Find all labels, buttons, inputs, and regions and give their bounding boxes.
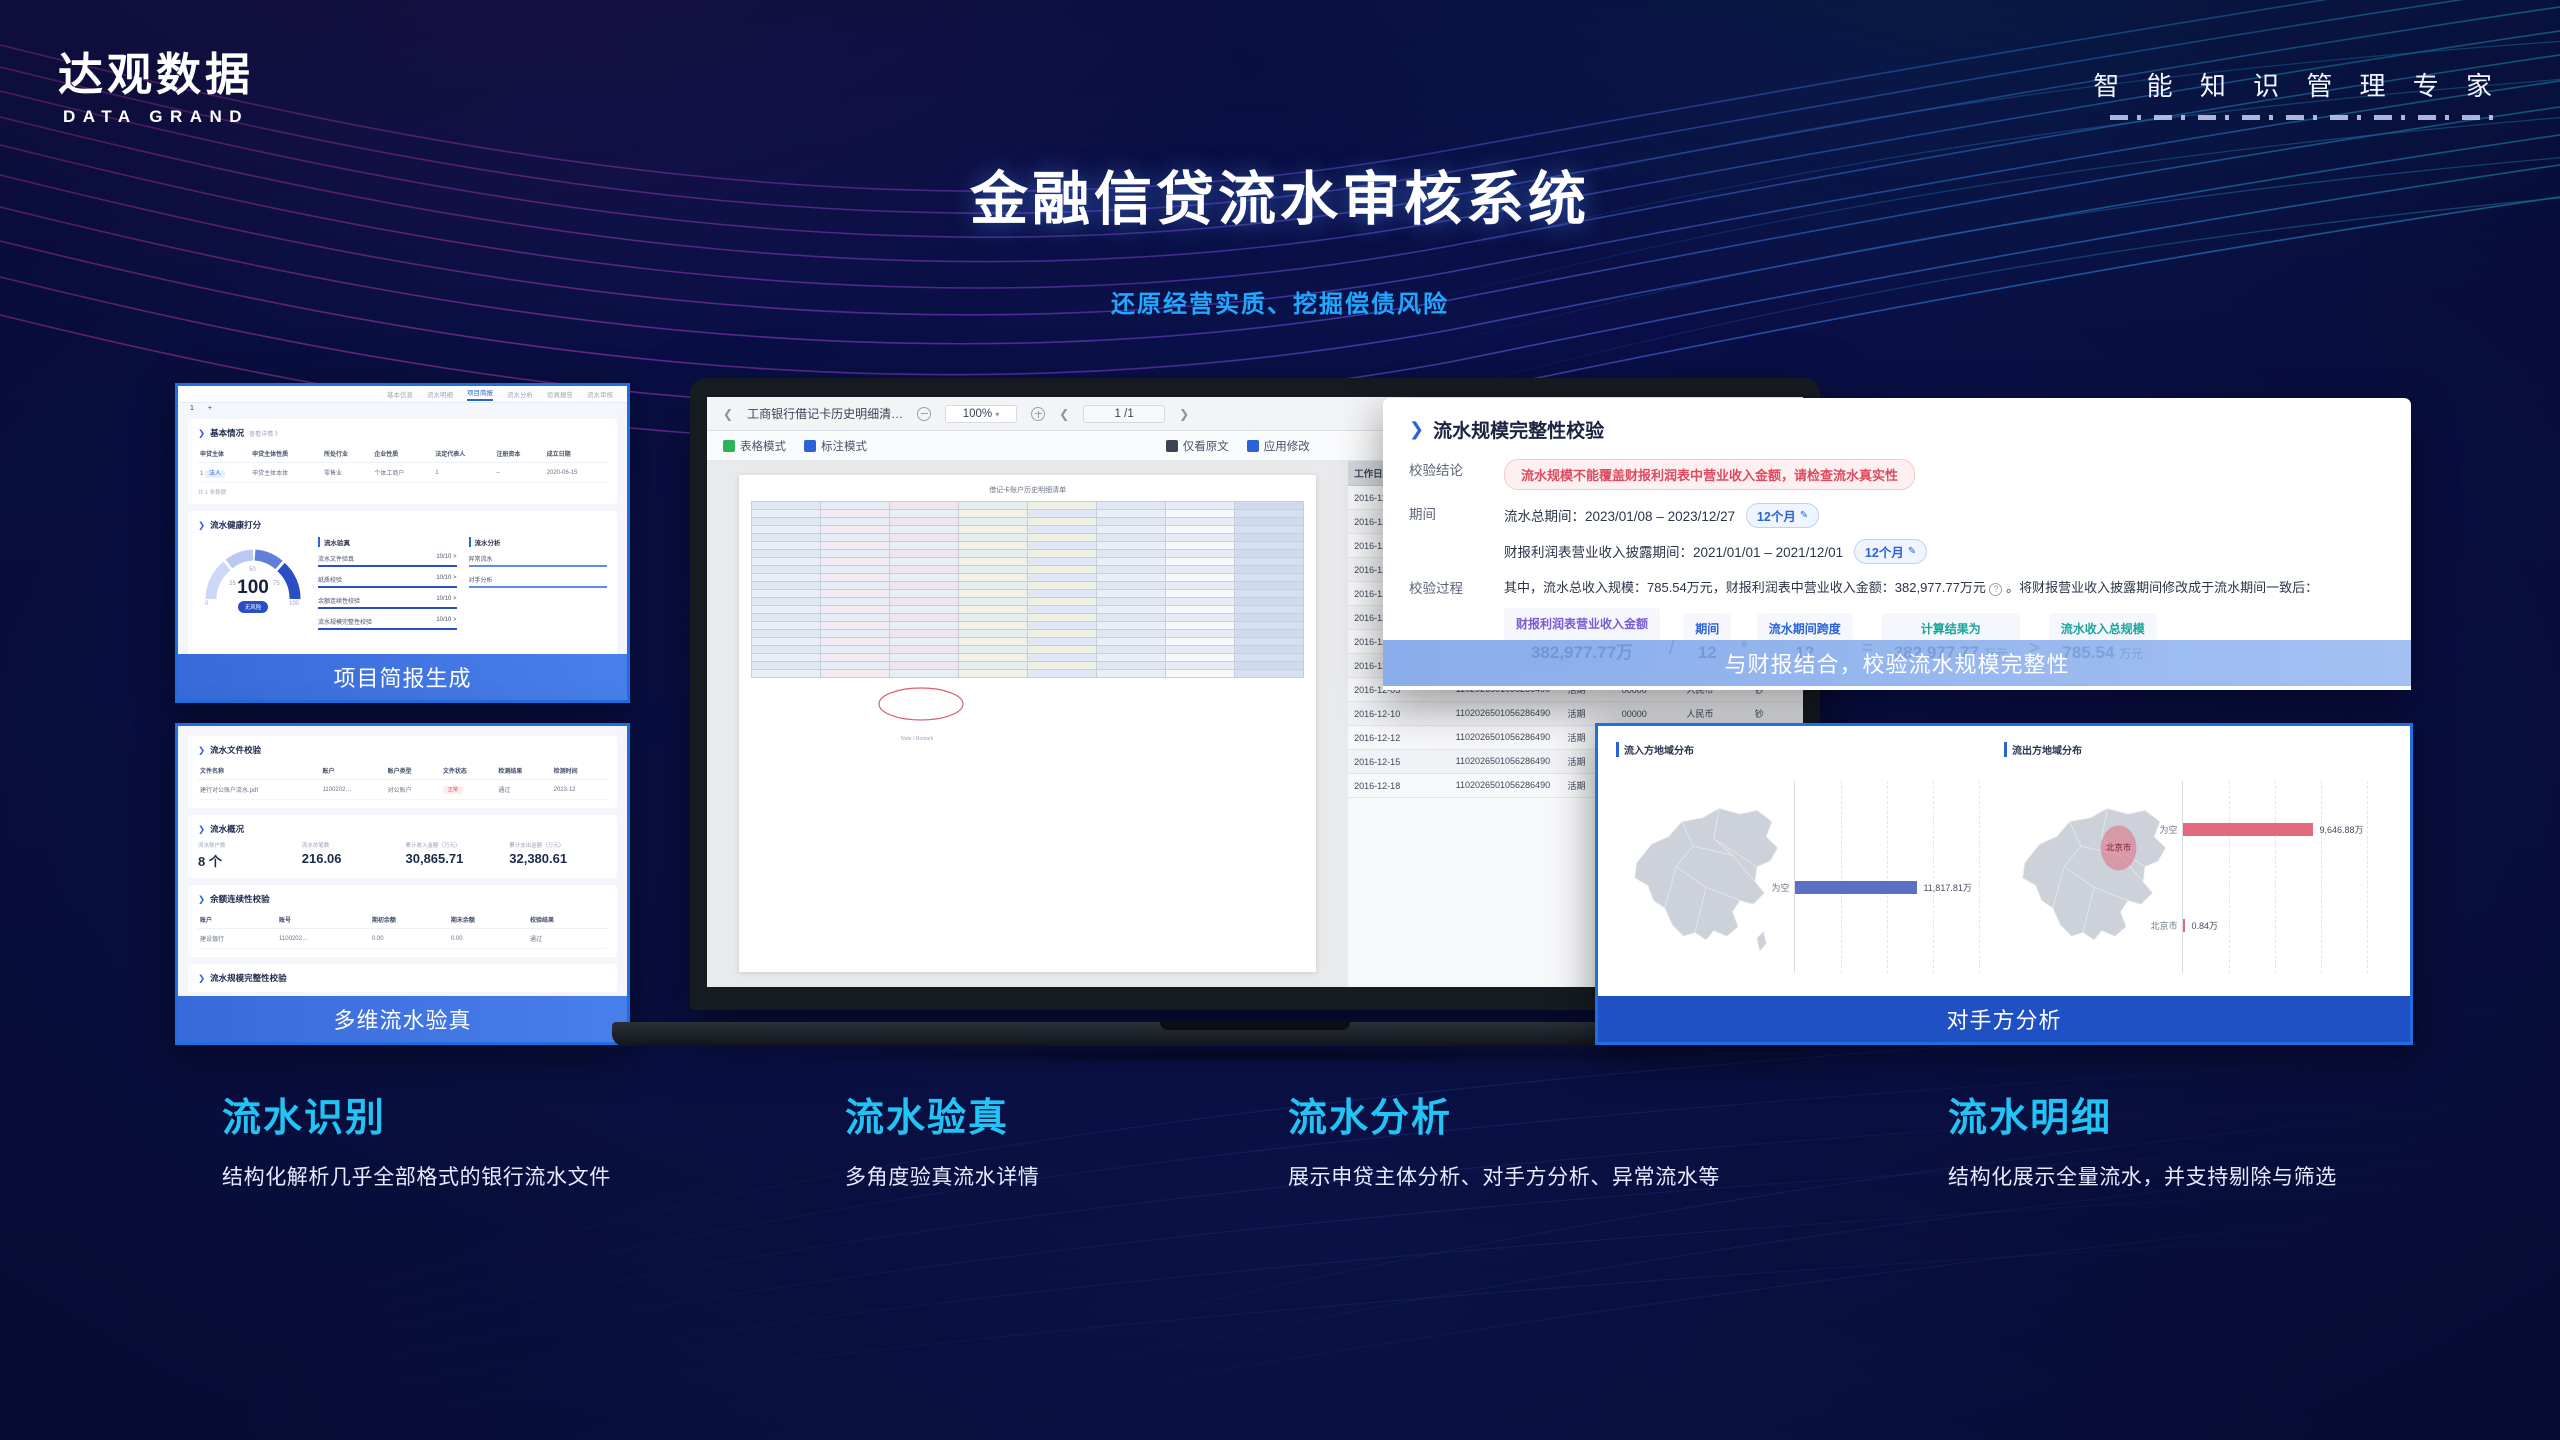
apply-changes-label: 应用修改 [1264, 438, 1310, 454]
process-sentence: 其中，流水总收入规模：785.54万元，财报利润表中营业收入金额：382,977… [1504, 577, 2385, 596]
score-label: 流水规模完整性校验 [318, 617, 372, 626]
th-4: 校验结果 [528, 911, 607, 929]
gridline [2367, 781, 2368, 974]
table-header-row: 文件名称 账户 账户类型 文件状态 检测结果 检测时间 [198, 762, 607, 780]
gridline [2229, 781, 2230, 974]
score-track [469, 586, 608, 588]
td-1: 申贷主体本体 [250, 463, 322, 483]
svg-text:75: 75 [273, 581, 280, 587]
brief-nav-0[interactable]: 基本信息 [387, 389, 413, 399]
th-0: 文件名称 [198, 762, 321, 780]
verify-section-overview: ❯ 流水概况 [198, 823, 607, 835]
td-3: 正常 [441, 780, 496, 800]
panel-project-brief[interactable]: 基本信息 流水明细 项目简报 流水分析 验真报告 流水审核 1 + ❯ 基本情况… [175, 383, 630, 703]
inflow-bar-chart: 为空 11,817.81万 [1794, 781, 2004, 974]
prev-page-icon[interactable]: ❮ [1059, 407, 1069, 421]
verify-file-table: 文件名称 账户 账户类型 文件状态 检测结果 检测时间 建行对公账户流水.pdf… [198, 762, 607, 800]
doc-table-row [752, 670, 1304, 678]
dialog-period-row: 期间 流水总期间：2023/01/08 – 2023/12/27 12个月 ✎ … [1409, 503, 2385, 564]
panel-verify-caption: 多维流水验真 [178, 996, 627, 1042]
verify-section-file: ❯ 流水文件校验 [198, 744, 607, 756]
apply-changes-button[interactable]: 应用修改 [1247, 438, 1310, 454]
bar-fill [2183, 823, 2313, 836]
th-1: 账户 [321, 762, 386, 780]
brief-section-basic: ❯ 基本情况 查看详情 》 [198, 427, 607, 439]
highlight-city-label: 北京市 [2106, 842, 2132, 852]
brief-section-score: ❯ 流水健康打分 [198, 519, 607, 531]
score-fill [318, 628, 457, 630]
china-map-svg: 北京市 [2004, 790, 2182, 965]
kpi-value: 30,865.71 [406, 851, 504, 866]
doc-page: 借记卡账户历史明细清单 [739, 475, 1316, 972]
brief-section-score-title: 流水健康打分 [210, 519, 261, 531]
kpi-label: 累计支出金额（万元） [509, 841, 607, 849]
bar-fill [2183, 919, 2185, 932]
td-5: 2023-12 [552, 780, 607, 800]
dialog-title: 流水规模完整性校验 [1433, 416, 1604, 443]
score-track [318, 565, 457, 567]
mode-mark-button[interactable]: 标注模式 [804, 438, 867, 454]
doc-table-row [752, 510, 1304, 518]
dialog-conclusion-value: 流水规模不能覆盖财报利润表中营业收入金额，请检查流水真实性 [1504, 459, 2385, 490]
score-fill [469, 565, 608, 567]
map-inflow-flex: 为空 11,817.81万 [1616, 765, 2004, 989]
svg-text:Note / Remark: Note / Remark [901, 736, 934, 742]
score-label: 流水文件验真 [318, 554, 354, 563]
doc-table-row [752, 582, 1304, 590]
verify-section-overview-title: 流水概况 [210, 823, 244, 835]
td-2: 0.00 [370, 929, 449, 949]
score-fill [318, 607, 457, 609]
kpi-value: 216.06 [302, 851, 400, 866]
td-1: 1100202… [321, 780, 386, 800]
kpi-2: 累计收入金额（万元） 30,865.71 [406, 841, 504, 870]
feature-captions: 流水识别 结构化解析几乎全部格式的银行流水文件 流水验真 多角度验真流水详情 流… [0, 1098, 2560, 1228]
doc-annotation: Note / Remark [751, 684, 1304, 754]
score-group-verify-title: 流水验真 [318, 537, 457, 547]
feature-3: 流水明细 结构化展示全量流水，并支持剔除与筛选 [1948, 1098, 2337, 1191]
page-indicator[interactable]: 1 /1 [1083, 405, 1165, 423]
table-cell-0: 2016-12-10 [1348, 702, 1449, 726]
score-item[interactable]: 流水文件验真10/10 > [318, 554, 457, 567]
td-index-num: 1 [200, 471, 203, 477]
feature-2-desc: 展示申贷主体分析、对手方分析、异常流水等 [1288, 1161, 1720, 1191]
feature-3-desc: 结构化展示全量流水，并支持剔除与筛选 [1948, 1161, 2337, 1191]
score-track [318, 607, 457, 609]
mode-mark-label: 标注模式 [821, 438, 867, 454]
chevron-right-icon: ❯ [198, 520, 205, 531]
gridline [1979, 781, 1980, 974]
table-cell-5: 钞 [1749, 702, 1803, 726]
feature-0: 流水识别 结构化解析几乎全部格式的银行流水文件 [222, 1098, 611, 1191]
score-track [318, 586, 457, 588]
map-outflow-title: 流出方地域分布 [2004, 742, 2392, 757]
td-3: 0.00 [449, 929, 528, 949]
brief-score-card: ❯ 流水健康打分 25 50 75 0 100 1 [188, 511, 617, 661]
score-item[interactable]: 纸质校验10/10 > [318, 575, 457, 588]
svg-text:100: 100 [289, 601, 300, 607]
edit-pencil-icon[interactable]: ✎ [1800, 510, 1808, 521]
view-original-label: 仅看原文 [1183, 438, 1229, 454]
verify-balance-card: ❯ 余额连续性校验 账户 账号 期初余额 期末余额 校验结果 建设银行 1100… [188, 885, 617, 957]
th-4: 检测结果 [496, 762, 551, 780]
outflow-bar-chart: 为空 9,646.88万 北京市 0.84万 [2182, 781, 2392, 974]
bar-category: 为空 [2159, 823, 2177, 836]
brand-name-cn: 达观数据 [58, 52, 254, 97]
panel-brief-caption: 项目简报生成 [178, 654, 627, 700]
td-5: – [494, 463, 544, 483]
table-cell-4: 人民币 [1681, 702, 1749, 726]
bar-category: 为空 [1771, 881, 1789, 894]
kpi-value: 32,380.61 [509, 851, 607, 866]
svg-text:50: 50 [249, 567, 256, 573]
doc-table-row [752, 558, 1304, 566]
china-map-svg [1616, 790, 1794, 965]
feature-1: 流水验真 多角度验真流水详情 [845, 1098, 1039, 1191]
table-row[interactable]: 1 法人 申贷主体本体 零售业 个体工商户 1 – 2020-06-15 [198, 463, 607, 483]
score-label: 余额连续性校验 [318, 596, 360, 605]
doc-table-row [752, 526, 1304, 534]
doc-table-row [752, 574, 1304, 582]
td-2: 零售业 [322, 463, 372, 483]
verify-screen: ❯ 流水文件校验 文件名称 账户 账户类型 文件状态 检测结果 检测时间 建行对… [178, 726, 627, 1042]
score-value: 10/10 > [436, 554, 456, 563]
table-row[interactable]: 建行对公账户流水.pdf 1100202… 对公账户 正常 通过 2023-12 [198, 780, 607, 800]
doc-table-row [752, 630, 1304, 638]
gridline [1887, 781, 1888, 974]
period-1-chip-label: 12个月 [1757, 506, 1796, 525]
verify-scale-card: ❯ 流水规模完整性校验 [188, 964, 617, 992]
brief-basic-table: 申贷主体 申贷主体性质 所处行业 企业性质 法定代表人 注册资本 成立日期 1 … [198, 445, 607, 483]
period-2-chip[interactable]: 12个月 ✎ [1854, 539, 1927, 564]
doc-table-row [752, 534, 1304, 542]
kpi-label: 流水账户数 [198, 841, 296, 849]
td-0: 建行对公账户流水.pdf [198, 780, 321, 800]
map-inflow-title: 流入方地域分布 [1616, 742, 2004, 757]
doc-page-table [751, 501, 1304, 678]
zoom-level-select[interactable]: 100% ▾ [945, 405, 1017, 423]
chevron-right-icon: ❯ [198, 745, 205, 756]
bar-value-label: 11,817.81万 [1923, 881, 1971, 894]
brand-name-en: DATA GRAND [58, 107, 254, 127]
brand-logo: 达观数据 DATA GRAND [58, 52, 254, 127]
back-icon[interactable]: ❮ [723, 407, 733, 421]
verify-section-scale-title: 流水规模完整性校验 [210, 972, 287, 984]
score-group-analysis-title: 流水分析 [469, 537, 608, 547]
bar-value-label: 0.84万 [2191, 919, 2218, 932]
score-fill [318, 586, 457, 588]
calc-term-3-head: 流水期间跨度 [1769, 620, 1841, 637]
th-3: 期末余额 [449, 911, 528, 929]
china-map-icon [1616, 790, 1794, 965]
brief-tab-1[interactable]: 1 [190, 405, 194, 412]
panel-map-caption: 对手方分析 [1598, 996, 2410, 1042]
view-original-button[interactable]: 仅看原文 [1166, 438, 1229, 454]
kpi-3: 累计支出金额（万元） 32,380.61 [509, 841, 607, 870]
doc-table-row [752, 662, 1304, 670]
tagline-rule [2110, 115, 2502, 120]
map-outflow: 流出方地域分布 北京市 为空 [2004, 742, 2392, 990]
brief-section-basic-title: 基本情况 [210, 427, 244, 439]
brief-score-body: 25 50 75 0 100 100 无风险 流水验真 流水文件验真10/10 … [198, 537, 607, 638]
th-3: 文件状态 [441, 762, 496, 780]
panel-multi-verify[interactable]: ❯ 流水文件校验 文件名称 账户 账户类型 文件状态 检测结果 检测时间 建行对… [175, 723, 630, 1045]
help-icon[interactable]: ? [1989, 583, 2002, 596]
doc-table-row [752, 606, 1304, 614]
th-2: 账户类型 [386, 762, 441, 780]
score-label: 对手分析 [469, 575, 493, 584]
td-4: 通过 [496, 780, 551, 800]
row-tag: 法人 [205, 470, 225, 478]
chevron-right-icon: ❯ [198, 824, 205, 835]
laptop-shadow [560, 1042, 1940, 1068]
brief-table-footer: 共 1 条数据 [198, 483, 607, 496]
score-track [318, 628, 457, 630]
calc-term-5-head: 流水收入总规模 [2061, 620, 2145, 637]
feature-1-desc: 多角度验真流水详情 [845, 1161, 1039, 1191]
score-value: 10/10 > [436, 596, 456, 605]
doc-table-row [752, 502, 1304, 510]
th-1: 账号 [277, 911, 370, 929]
brief-nav-4[interactable]: 验真报告 [547, 389, 573, 399]
doc-table-row [752, 590, 1304, 598]
doc-table-row [752, 654, 1304, 662]
process-text-2: 。将财报营业收入披露期间修改成于流水期间一致后： [2006, 580, 2318, 595]
gridline [1841, 781, 1842, 974]
th-0: 申贷主体 [198, 445, 250, 463]
gridline [2275, 781, 2276, 974]
period-2-text: 财报利润表营业收入披露期间：2021/01/01 – 2021/12/01 [1504, 545, 1843, 560]
chevron-right-icon: ❯ [198, 894, 205, 905]
score-fill [318, 565, 457, 567]
doc-table-row [752, 566, 1304, 574]
dialog-period-value: 流水总期间：2023/01/08 – 2023/12/27 12个月 ✎ 财报利… [1504, 503, 2385, 564]
td-3: 个体工商户 [372, 463, 433, 483]
doc-table-row [752, 614, 1304, 622]
chevron-right-icon: ❯ [1409, 419, 1424, 440]
page-title: 金融信贷流水审核系统 [0, 152, 2560, 236]
bar-item[interactable]: 北京市 0.84万 [2183, 919, 2218, 932]
table-cell-0: 2016-12-12 [1348, 726, 1449, 750]
doc-table-row [752, 542, 1304, 550]
china-map-icon: 北京市 [2004, 790, 2182, 965]
grid-icon [723, 440, 735, 452]
mode-table-button[interactable]: 表格模式 [723, 438, 786, 454]
verify-section-file-title: 流水文件校验 [210, 744, 261, 756]
period-2-chip-label: 12个月 [1865, 542, 1904, 561]
gauge-risk-badge: 无风险 [238, 601, 269, 613]
period-line-2: 财报利润表营业收入披露期间：2021/01/01 – 2021/12/01 12… [1504, 539, 2385, 564]
bar-item[interactable]: 为空 9,646.88万 [2183, 823, 2363, 836]
verify-balance-table: 账户 账号 期初余额 期末余额 校验结果 建设银行 1100202… 0.00 … [198, 911, 607, 949]
next-page-icon[interactable]: ❯ [1179, 407, 1189, 421]
feature-0-desc: 结构化解析几乎全部格式的银行流水文件 [222, 1161, 611, 1191]
kpi-label: 累计收入金额（万元） [406, 841, 504, 849]
gauge-value: 100 [237, 577, 269, 599]
period-1-chip[interactable]: 12个月 ✎ [1746, 503, 1819, 528]
period-1-text: 流水总期间：2023/01/08 – 2023/12/27 [1504, 509, 1735, 524]
apply-icon [1247, 440, 1259, 452]
td-2: 对公账户 [386, 780, 441, 800]
gridline [2321, 781, 2322, 974]
td-4: 1 [433, 463, 494, 483]
table-cell-1: 1102026501056286490 [1450, 726, 1562, 750]
brief-nav-3[interactable]: 流水分析 [507, 389, 533, 399]
mode-table-label: 表格模式 [740, 438, 786, 454]
dialog-conclusion-label: 校验结论 [1409, 459, 1504, 490]
chevron-right-icon: ❯ [198, 973, 205, 984]
alert-badge: 流水规模不能覆盖财报利润表中营业收入金额，请检查流水真实性 [1504, 459, 1915, 490]
verify-kpis: 流水账户数 8 个 流水总笔数 216.06 累计收入金额（万元） 30,865… [198, 841, 607, 870]
map-inflow: 流入方地域分布 为空 11 [1616, 742, 2004, 990]
score-label: 异常流水 [469, 554, 493, 563]
doc-preview-pane[interactable]: 借记卡账户历史明细清单 [707, 461, 1348, 987]
table-cell-0: 2016-12-15 [1348, 750, 1449, 774]
table-cell-1: 1102026501056286490 [1450, 702, 1562, 726]
feature-2: 流水分析 展示申贷主体分析、对手方分析、异常流水等 [1288, 1098, 1720, 1191]
doc-file-name: 工商银行借记卡历史明细清… [747, 405, 903, 422]
score-value: 10/10 > [436, 617, 456, 626]
th-5: 检测时间 [552, 762, 607, 780]
verify-file-card: ❯ 流水文件校验 文件名称 账户 账户类型 文件状态 检测结果 检测时间 建行对… [188, 736, 617, 808]
td-0: 建设银行 [198, 929, 277, 949]
th-2: 期初余额 [370, 911, 449, 929]
score-item[interactable]: 对手分析 [469, 575, 608, 588]
calc-term-2-head: 期间 [1695, 620, 1719, 637]
page-subtitle: 还原经营实质、挖掘偿债风险 [0, 284, 2560, 319]
map-outflow-flex: 北京市 为空 9,646.88万 北京市 [2004, 765, 2392, 989]
edit-pencil-icon[interactable]: ✎ [1908, 546, 1916, 557]
chevron-down-icon: ▾ [995, 410, 999, 419]
tagline-block: 智 能 知 识 管 理 专 家 [2093, 66, 2502, 120]
kpi-1: 流水总笔数 216.06 [302, 841, 400, 870]
brief-topnav[interactable]: 基本信息 流水明细 项目简报 流水分析 验真报告 流水审核 [178, 386, 627, 403]
th-2: 所处行业 [322, 445, 372, 463]
calc-term-1-head: 财报利润表营业收入金额 [1516, 615, 1648, 632]
panel-dialog-caption: 与财报结合，校验流水规模完整性 [1383, 640, 2411, 686]
zoom-out-icon[interactable] [917, 407, 931, 421]
kpi-0: 流水账户数 8 个 [198, 841, 296, 870]
svg-text:0: 0 [205, 601, 209, 607]
table-cell-3: 00000 [1616, 702, 1681, 726]
bar-category: 北京市 [2150, 919, 2177, 932]
doc-table-row [752, 550, 1304, 558]
calc-term-4-head: 计算结果为 [1894, 620, 2008, 637]
brief-nav-1[interactable]: 流水明细 [427, 389, 453, 399]
table-row[interactable]: 2016-12-101102026501056286490活期00000人民币钞 [1348, 702, 1803, 726]
brief-nav-2[interactable]: 项目简报 [467, 387, 493, 401]
verify-section-balance: ❯ 余额连续性校验 [198, 893, 607, 905]
bar-item[interactable]: 为空 11,817.81万 [1795, 881, 1971, 894]
zoom-in-icon[interactable] [1031, 407, 1045, 421]
brief-tab-add[interactable]: + [208, 405, 212, 412]
score-groups: 流水验真 流水文件验真10/10 > 纸质校验10/10 > 余额连续性校验10… [318, 537, 607, 638]
feature-3-title: 流水明细 [1948, 1098, 2337, 1141]
score-item[interactable]: 异常流水 [469, 554, 608, 567]
table-cell-1: 1102026501056286490 [1450, 774, 1562, 798]
verify-section-balance-title: 余额连续性校验 [210, 893, 270, 905]
kpi-value: 8 个 [198, 851, 296, 870]
verify-section-scale: ❯ 流水规模完整性校验 [198, 972, 607, 984]
bar-fill [1795, 881, 1917, 894]
table-cell-0: 2016-12-18 [1348, 774, 1449, 798]
kpi-label: 流水总笔数 [302, 841, 400, 849]
svg-text:25: 25 [229, 581, 236, 587]
score-item[interactable]: 流水规模完整性校验10/10 > [318, 617, 457, 630]
verify-overview-card: ❯ 流水概况 流水账户数 8 个 流水总笔数 216.06 累计收入金额（万元）… [188, 815, 617, 878]
td-index: 1 法人 [198, 463, 250, 483]
feature-1-title: 流水验真 [845, 1098, 1039, 1141]
td-6: 2020-06-15 [545, 463, 607, 483]
doc-page-title: 借记卡账户历史明细清单 [751, 485, 1304, 495]
table-cell-1: 1102026501056286490 [1450, 750, 1562, 774]
score-label: 纸质校验 [318, 575, 342, 584]
brief-tabs[interactable]: 1 + [178, 403, 627, 412]
map-body: 流入方地域分布 为空 11 [1598, 726, 2410, 996]
doc-table-row [752, 518, 1304, 526]
doc-table-row [752, 598, 1304, 606]
table-header-row: 账户 账号 期初余额 期末余额 校验结果 [198, 911, 607, 929]
brief-basic-card: ❯ 基本情况 查看详情 》 申贷主体 申贷主体性质 所处行业 企业性质 法定代表… [188, 419, 617, 504]
td-1: 1100202… [277, 929, 370, 949]
dialog-title-row: ❯ 流水规模完整性校验 [1409, 416, 2385, 443]
doc-table-row [752, 638, 1304, 646]
dialog-conclusion-row: 校验结论 流水规模不能覆盖财报利润表中营业收入金额，请检查流水真实性 [1409, 459, 2385, 490]
th-4: 法定代表人 [433, 445, 494, 463]
th-1: 申贷主体性质 [250, 445, 322, 463]
marker-icon [804, 440, 816, 452]
chevron-right-icon: ❯ [198, 428, 205, 439]
score-value: 10/10 > [436, 575, 456, 584]
process-text-1: 其中，流水总收入规模：785.54万元，财报利润表中营业收入金额：382,977… [1504, 580, 1986, 595]
th-5: 注册资本 [494, 445, 544, 463]
status-badge: 正常 [443, 786, 463, 794]
panel-counterparty-analysis[interactable]: 流入方地域分布 为空 11 [1595, 723, 2413, 1045]
feature-0-title: 流水识别 [222, 1098, 611, 1141]
doc-table-row [752, 646, 1304, 654]
doc-table-row [752, 622, 1304, 630]
feature-2-title: 流水分析 [1288, 1098, 1720, 1141]
bar-value-label: 9,646.88万 [2319, 823, 2363, 836]
table-header-row: 申贷主体 申贷主体性质 所处行业 企业性质 法定代表人 注册资本 成立日期 [198, 445, 607, 463]
brief-basic-more-link[interactable]: 查看详情 》 [249, 429, 281, 438]
eye-icon [1166, 440, 1178, 452]
td-4: 通过 [528, 929, 607, 949]
th-0: 账户 [198, 911, 277, 929]
zoom-level-value: 100% [963, 408, 992, 420]
dialog-period-label: 期间 [1409, 503, 1504, 564]
score-group-verify: 流水验真 流水文件验真10/10 > 纸质校验10/10 > 余额连续性校验10… [318, 537, 457, 638]
score-track [469, 565, 608, 567]
score-fill [469, 586, 608, 588]
period-line-1: 流水总期间：2023/01/08 – 2023/12/27 12个月 ✎ [1504, 503, 2385, 528]
tagline-text: 智 能 知 识 管 理 专 家 [2093, 66, 2502, 103]
brief-nav-5[interactable]: 流水审核 [587, 389, 613, 399]
score-item[interactable]: 余额连续性校验10/10 > [318, 596, 457, 609]
table-row[interactable]: 建设银行 1100202… 0.00 0.00 通过 [198, 929, 607, 949]
table-cell-2: 活期 [1562, 702, 1616, 726]
brief-screen: 基本信息 流水明细 项目简报 流水分析 验真报告 流水审核 1 + ❯ 基本情况… [178, 386, 627, 700]
health-gauge: 25 50 75 0 100 100 无风险 [198, 537, 308, 638]
score-group-analysis: 流水分析 异常流水 对手分析 [469, 537, 608, 638]
gridline [1933, 781, 1934, 974]
th-6: 成立日期 [545, 445, 607, 463]
th-3: 企业性质 [372, 445, 433, 463]
